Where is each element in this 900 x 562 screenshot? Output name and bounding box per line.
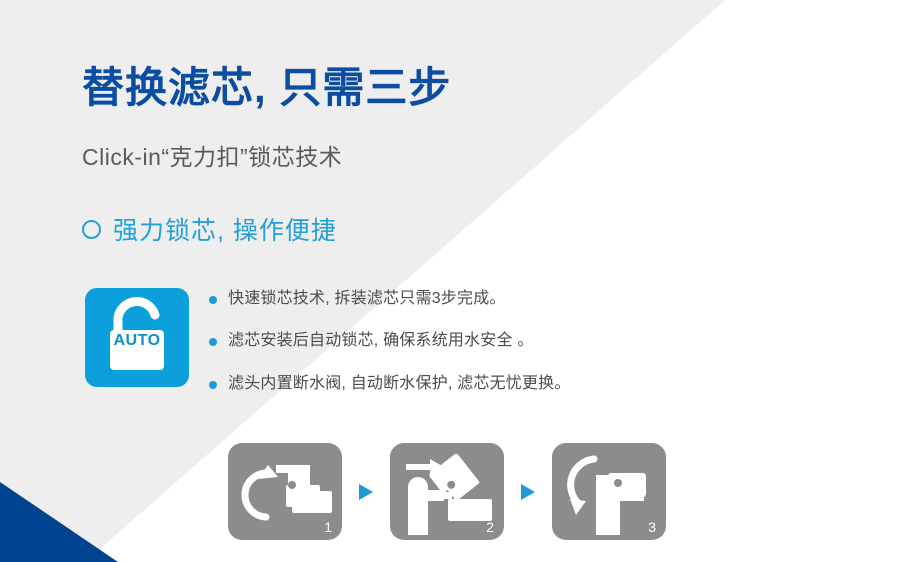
step-number-label: 1 <box>324 519 332 535</box>
list-item-label: 滤芯安装后自动锁芯, 确保系统用水安全 。 <box>228 330 534 352</box>
auto-lock-badge: AUTO <box>85 288 189 387</box>
bullet-dot-icon <box>209 338 217 346</box>
triangle-right-icon <box>358 483 374 501</box>
section-heading-label: 强力锁芯, 操作便捷 <box>113 211 337 247</box>
page-title: 替换滤芯, 只需三步 <box>82 64 451 112</box>
auto-label: AUTO <box>85 332 189 350</box>
triangle-right-icon <box>520 483 536 501</box>
list-item: 滤芯安装后自动锁芯, 确保系统用水安全 。 <box>209 330 689 352</box>
bullet-dot-icon <box>209 381 217 389</box>
section-heading: 强力锁芯, 操作便捷 <box>82 211 337 247</box>
list-item-label: 快速锁芯技术, 拆装滤芯只需3步完成。 <box>228 288 506 310</box>
page-subtitle: Click-in“克力扣”锁芯技术 <box>82 138 342 172</box>
step-number-label: 3 <box>648 519 656 535</box>
step-tile-1: 1 <box>228 443 342 540</box>
step-number-label: 2 <box>486 519 494 535</box>
step-tile-2: 2 <box>390 443 504 540</box>
bullet-dot-icon <box>209 296 217 304</box>
feature-bullet-list: 快速锁芯技术, 拆装滤芯只需3步完成。 滤芯安装后自动锁芯, 确保系统用水安全 … <box>209 288 689 415</box>
step-separator-1 <box>342 483 390 501</box>
circle-bullet-icon <box>82 220 101 239</box>
list-item: 滤头内置断水阀, 自动断水保护, 滤芯无忧更换。 <box>209 373 689 395</box>
list-item: 快速锁芯技术, 拆装滤芯只需3步完成。 <box>209 288 689 310</box>
step-tile-3: 3 <box>552 443 666 540</box>
slide-canvas: 替换滤芯, 只需三步 Click-in“克力扣”锁芯技术 强力锁芯, 操作便捷 … <box>0 0 900 562</box>
step-separator-2 <box>504 483 552 501</box>
list-item-label: 滤头内置断水阀, 自动断水保护, 滤芯无忧更换。 <box>228 373 571 395</box>
steps-sequence: 1 <box>228 443 666 540</box>
